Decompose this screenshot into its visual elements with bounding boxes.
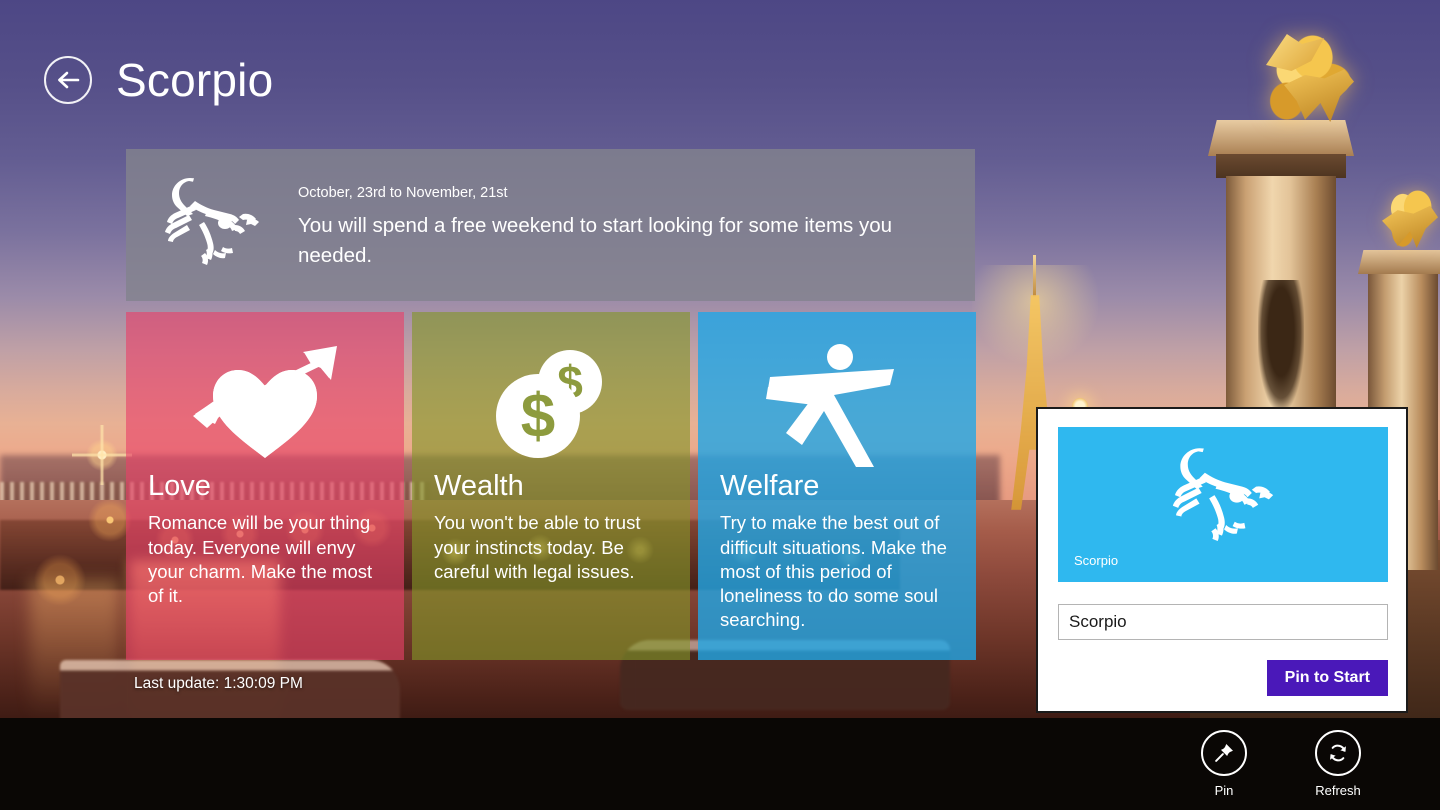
column-frieze bbox=[1216, 154, 1346, 178]
column-wreath-ornament bbox=[1258, 280, 1304, 410]
refresh-icon bbox=[1315, 730, 1361, 776]
bottom-app-bar: Pin Refresh bbox=[0, 718, 1440, 810]
tile-preview: Scorpio bbox=[1058, 427, 1388, 582]
golden-pegasus-statue-main bbox=[1250, 22, 1358, 126]
money-coins-icon: $ $ bbox=[412, 336, 690, 476]
tile-name-input[interactable] bbox=[1058, 604, 1388, 640]
tile-description: Try to make the best out of difficult si… bbox=[720, 511, 960, 632]
pin-to-start-flyout: Scorpio Pin to Start bbox=[1036, 407, 1408, 713]
back-arrow-icon bbox=[56, 70, 80, 90]
eiffel-spire bbox=[1033, 255, 1036, 297]
tile-title: Wealth bbox=[434, 470, 674, 503]
tile-wealth-body: Wealth You won't be able to trust your i… bbox=[434, 470, 674, 584]
horoscope-app-page: Scorpio bbox=[0, 0, 1440, 810]
appbar-command-pin[interactable]: Pin bbox=[1194, 730, 1254, 798]
appbar-command-label: Pin bbox=[1215, 783, 1234, 798]
tile-description: You won't be able to trust your instinct… bbox=[434, 511, 674, 584]
appbar-command-refresh[interactable]: Refresh bbox=[1308, 730, 1368, 798]
starburst-light bbox=[72, 425, 132, 485]
pushpin-icon bbox=[1201, 730, 1247, 776]
page-title: Scorpio bbox=[116, 57, 273, 103]
pin-to-start-button[interactable]: Pin to Start bbox=[1267, 660, 1388, 696]
tile-love-body: Love Romance will be your thing today. E… bbox=[148, 470, 388, 608]
last-update-status: Last update: 1:30:09 PM bbox=[134, 675, 303, 693]
page-header: Scorpio bbox=[44, 56, 273, 104]
tile-preview-label: Scorpio bbox=[1074, 553, 1118, 568]
sign-description: You will spend a free weekend to start l… bbox=[298, 211, 898, 270]
banner-text: October, 23rd to November, 21st You will… bbox=[298, 149, 928, 270]
statue-wing bbox=[1266, 34, 1324, 84]
sign-summary-banner: October, 23rd to November, 21st You will… bbox=[126, 149, 975, 301]
tile-love[interactable]: Love Romance will be your thing today. E… bbox=[126, 312, 404, 660]
svg-text:$: $ bbox=[521, 382, 555, 451]
running-person-icon bbox=[698, 336, 976, 476]
back-button[interactable] bbox=[44, 56, 92, 104]
tile-title: Welfare bbox=[720, 470, 960, 503]
flyout-actions: Pin to Start bbox=[1058, 660, 1388, 696]
tile-welfare-body: Welfare Try to make the best out of diff… bbox=[720, 470, 960, 633]
tile-wealth[interactable]: $ $ Wealth You won't be able to trust yo… bbox=[412, 312, 690, 660]
sign-date-range: October, 23rd to November, 21st bbox=[298, 185, 898, 201]
tile-description: Romance will be your thing today. Everyo… bbox=[148, 511, 388, 608]
golden-pegasus-statue-secondary bbox=[1378, 178, 1440, 254]
appbar-command-label: Refresh bbox=[1315, 783, 1361, 798]
heart-with-arrow-icon bbox=[126, 336, 404, 476]
tile-welfare[interactable]: Welfare Try to make the best out of diff… bbox=[698, 312, 976, 660]
scorpion-icon bbox=[1058, 443, 1388, 543]
statue-horse-secondary bbox=[1382, 204, 1438, 248]
tile-title: Love bbox=[148, 470, 388, 503]
scorpion-icon bbox=[126, 149, 298, 265]
category-tiles: Love Romance will be your thing today. E… bbox=[126, 312, 976, 660]
statue-horse bbox=[1284, 66, 1354, 122]
